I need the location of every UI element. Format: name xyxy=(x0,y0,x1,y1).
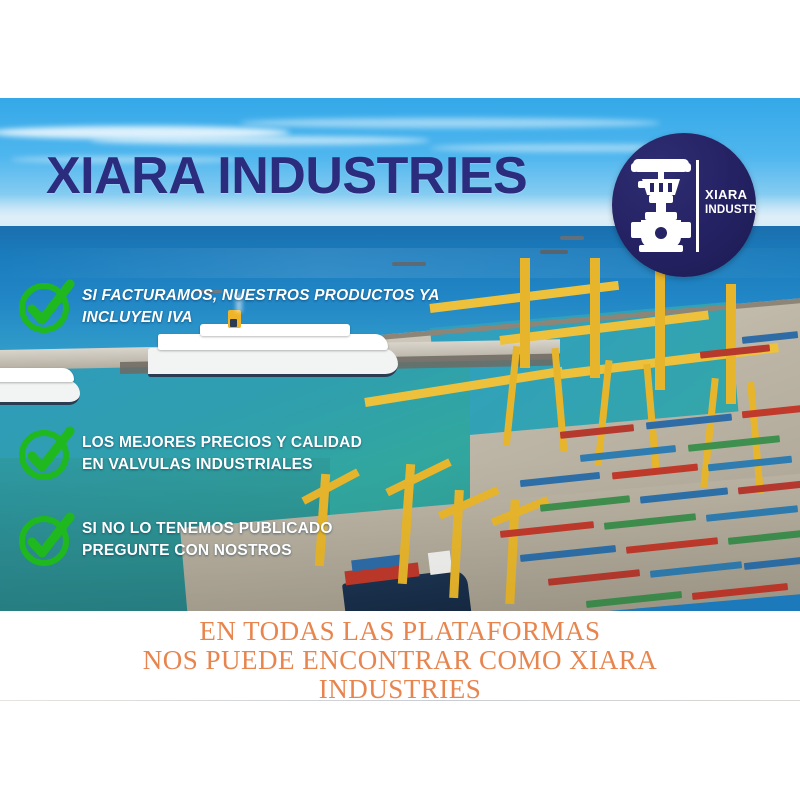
logo-brand-line1: XIARA xyxy=(705,186,756,203)
feature-bullet-2: LOS MEJORES PRECIOS Y CALIDAD EN VALVULA… xyxy=(18,428,362,482)
bullet-line1: SI FACTURAMOS, NUESTROS PRODUCTOS YA xyxy=(82,285,440,307)
page-title: XIARA INDUSTRIES xyxy=(46,150,527,202)
bullet-line2: INCLUYEN IVA xyxy=(82,307,440,329)
bullet-text: LOS MEJORES PRECIOS Y CALIDAD EN VALVULA… xyxy=(82,428,362,477)
company-logo[interactable]: XIARA INDUSTRIES xyxy=(612,133,756,277)
bullet-line1: LOS MEJORES PRECIOS Y CALIDAD xyxy=(82,432,362,454)
bullet-text: SI NO LO TENEMOS PUBLICADO PREGUNTE CON … xyxy=(82,514,333,563)
footer-text: EN TODAS LAS PLATAFORMAS NOS PUEDE ENCON… xyxy=(0,617,800,704)
logo-divider xyxy=(696,160,699,252)
bullet-text: SI FACTURAMOS, NUESTROS PRODUCTOS YA INC… xyxy=(82,281,440,330)
bullet-line2: EN VALVULAS INDUSTRIALES xyxy=(82,454,362,476)
promotional-poster: XIARA INDUSTRIES xyxy=(0,0,800,800)
green-check-circle-icon xyxy=(15,275,77,337)
logo-brand-line2: INDUSTRIES xyxy=(705,203,756,218)
footer-line2: NOS PUEDE ENCONTRAR COMO XIARA xyxy=(0,646,800,675)
check-circle-wrap xyxy=(18,514,72,568)
industrial-valve-icon xyxy=(629,157,693,255)
green-check-circle-icon xyxy=(15,422,77,484)
logo-text: XIARA INDUSTRIES xyxy=(705,186,756,218)
check-circle-wrap xyxy=(18,281,72,335)
footer-divider xyxy=(0,700,800,701)
bullet-line2: PREGUNTE CON NOSTROS xyxy=(82,540,333,562)
green-check-circle-icon xyxy=(15,508,77,570)
feature-bullet-3: SI NO LO TENEMOS PUBLICADO PREGUNTE CON … xyxy=(18,514,333,568)
feature-bullet-1: SI FACTURAMOS, NUESTROS PRODUCTOS YA INC… xyxy=(18,281,440,335)
footer-line1: EN TODAS LAS PLATAFORMAS xyxy=(0,617,800,646)
bullet-line1: SI NO LO TENEMOS PUBLICADO xyxy=(82,518,333,540)
check-circle-wrap xyxy=(18,428,72,482)
